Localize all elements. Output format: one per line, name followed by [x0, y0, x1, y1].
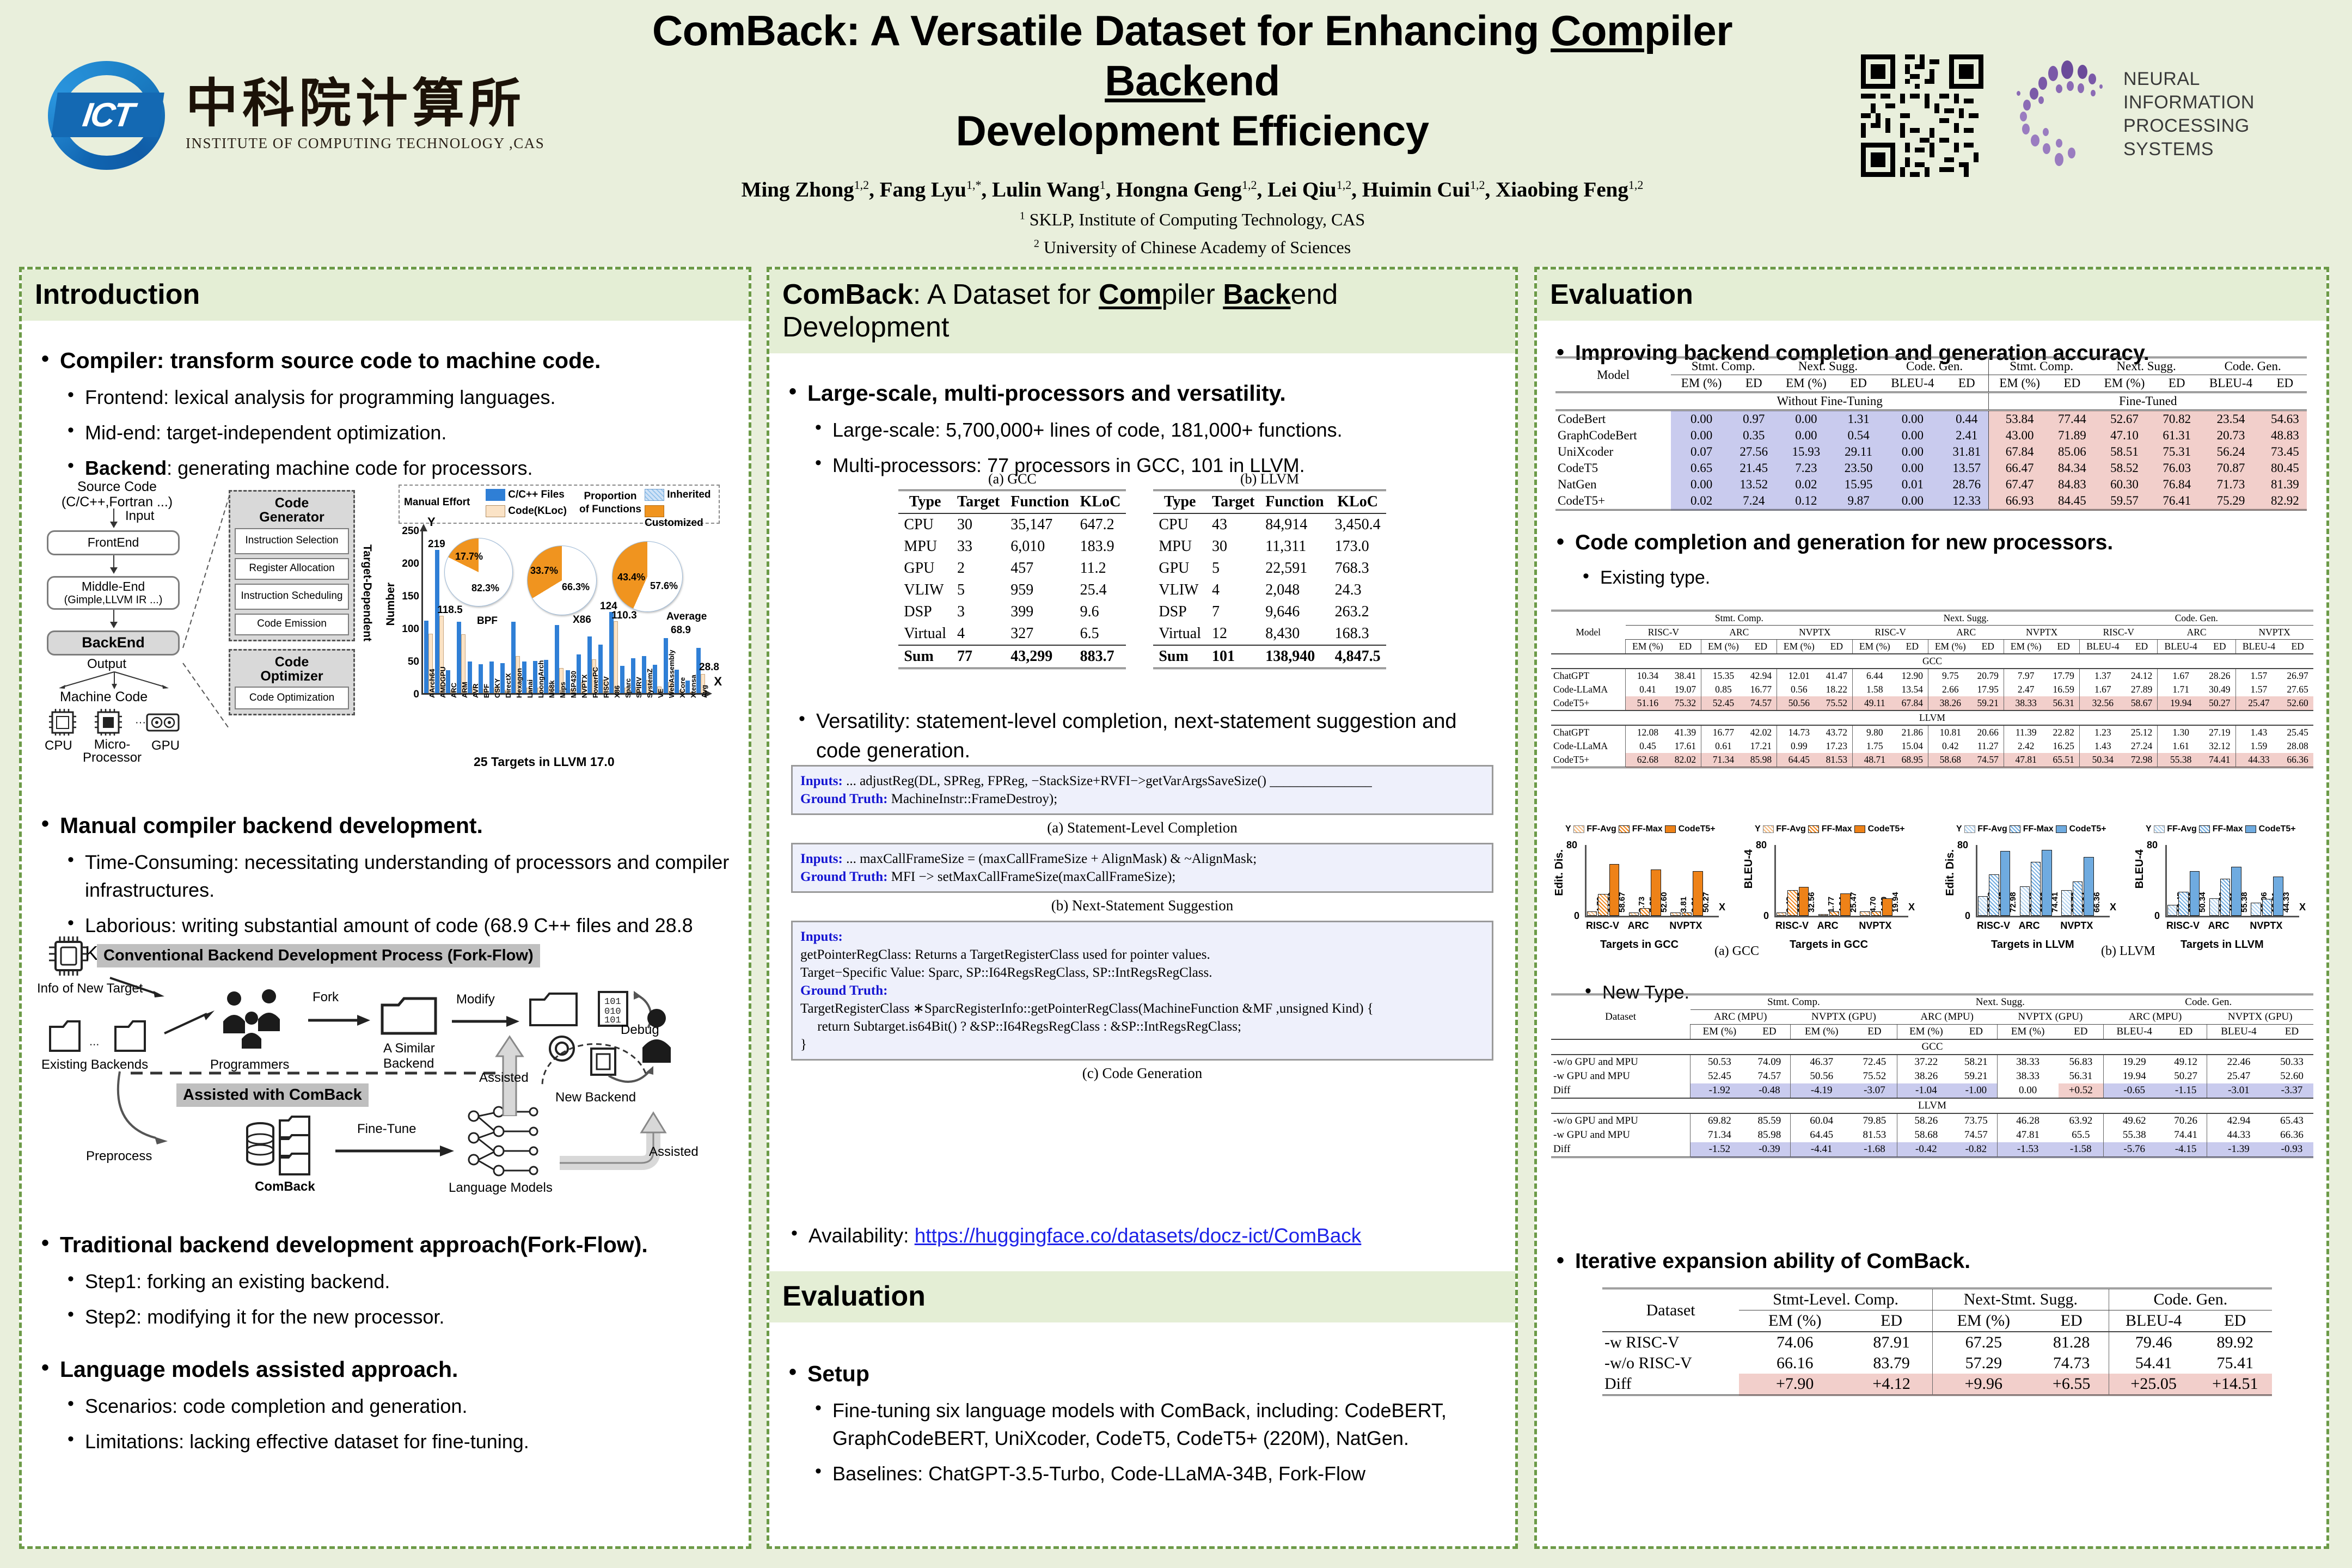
table-row: CodeBert0.000.970.001.310.000.4453.8477.… [1555, 411, 2307, 428]
availability-link[interactable]: https://huggingface.co/datasets/docz-ict… [915, 1224, 1362, 1247]
metric-header: ED [1972, 640, 2004, 654]
cell: 16.59 [2048, 683, 2079, 696]
cell: 16.77 [1701, 725, 1745, 739]
cell: 38.41 [1670, 669, 1701, 683]
minichart-ylabel: BLEU-4 [2134, 849, 2146, 889]
table-row: CodeT5+51.1675.3252.4574.5750.5675.5249.… [1551, 696, 2313, 710]
metric-header: ED [1851, 1310, 1932, 1332]
metric-header: EM (%) [2004, 640, 2048, 654]
cell: 38.26 [1897, 1069, 1955, 1083]
col-header: Target [1206, 491, 1260, 514]
cell: 29.11 [1836, 444, 1880, 460]
cell: 71.34 [1701, 753, 1745, 768]
cell: 77.44 [2050, 411, 2094, 428]
cell: -0.82 [1955, 1142, 1997, 1157]
cell: 66.36 [2282, 753, 2313, 768]
pipeline-micro-processor-label: Micro-Processor [83, 738, 142, 764]
row-label: Diff [1551, 1083, 1690, 1098]
cell: 54.41 [2109, 1353, 2198, 1374]
cell: 6,010 [1005, 536, 1074, 558]
codebox-statement-completion: Inputs: ... adjustReg(DL, SPReg, FPReg, … [791, 765, 1493, 815]
target-header: RISC-V [1626, 626, 1701, 640]
cell: 27.56 [1732, 444, 1775, 460]
group-header: Next. Sugg. [1775, 358, 1880, 375]
minichart-category: RISC-V [1977, 920, 2010, 932]
cell: 2 [952, 558, 1005, 579]
chart-legend-group-proportion: Proportionof Functions [579, 490, 641, 516]
row-label: GraphCodeBert [1555, 427, 1671, 444]
cell: 0.00 [1671, 476, 1732, 493]
table-llvm-wrapper: (b) LLVM TypeTargetFunctionKLoCCPU4384,9… [1153, 471, 1386, 669]
metric-header: ED [2035, 1310, 2109, 1332]
intro-bullet-traditional: Traditional backend development approach… [36, 1230, 734, 1331]
pie-chart [527, 546, 597, 615]
table-row: CodeT50.6521.457.2323.500.0013.5766.4784… [1555, 460, 2307, 476]
qr-code-icon[interactable]: 🤗 [1861, 54, 1983, 177]
cell: -1.92 [1690, 1083, 1749, 1098]
row-label: Code-LLaMA [1551, 683, 1626, 696]
minichart-category: NVPTX [2250, 920, 2282, 932]
chart-xtick: X86 [613, 685, 621, 698]
metric-header: ED [2050, 375, 2094, 393]
cell: 50.56 [1791, 1069, 1853, 1083]
cell: +9.96 [1933, 1374, 2035, 1395]
cell: 6.44 [1853, 669, 1897, 683]
target-header: NVPTX [2235, 626, 2313, 640]
cell: -4.15 [2165, 1142, 2207, 1157]
minichart-legend: Y FF-Avg FF-Max CodeT5+ [2146, 824, 2296, 834]
cell: 50.34 [2080, 753, 2126, 768]
chart-xtick: DirectX [504, 673, 512, 698]
table-llvm-caption: (b) LLVM [1153, 471, 1386, 487]
cg-title: CodeGenerator [235, 496, 349, 525]
chart-legend-files: C/C++ Files [486, 489, 565, 501]
cell: VLIW [1153, 579, 1206, 601]
pipeline-chip-ellipsis: ··· [135, 716, 146, 729]
table-row: -w/o GPU and MPU50.5374.0946.3772.4537.2… [1551, 1055, 2313, 1069]
cell: 52.60 [2270, 1069, 2313, 1083]
chart-xtick: SystemZ [646, 669, 654, 698]
forkflow-assisted-2: Assisted [649, 1144, 699, 1160]
cell: 84,914 [1260, 513, 1329, 536]
cell: -1.52 [1690, 1142, 1749, 1157]
cell: 58.52 [2094, 460, 2155, 476]
cell: 27.89 [2126, 683, 2158, 696]
minichart-category: RISC-V [1586, 920, 1619, 932]
table-row: CPU3035,147647.2 [898, 513, 1126, 536]
metric-header: ED [1945, 375, 1989, 393]
cell: -0.39 [1749, 1142, 1791, 1157]
cell: 0.02 [1775, 476, 1836, 493]
cell: 69.82 [1690, 1113, 1749, 1128]
band-finetuned: Fine-Tuned [1989, 393, 2307, 411]
cell: 46.28 [1997, 1113, 2058, 1128]
cell: 883.7 [1075, 645, 1126, 669]
chart-annotation: 219 [428, 538, 445, 550]
cell: 28.26 [2204, 669, 2235, 683]
figure-fork-flow: Conventional Backend Development Process… [37, 931, 739, 1203]
cell: 14.73 [1777, 725, 1821, 739]
group-header: Next. Sugg. [2094, 358, 2198, 375]
cell: 26.97 [2282, 669, 2313, 683]
minichart-y-axis [2165, 845, 2167, 916]
target-header: NVPTX [2004, 626, 2080, 640]
codebox-c-line-5: TargetRegisterClass ∗SparcRegisterInfo::… [800, 1000, 1484, 1018]
chart-xtick: M68k [548, 680, 556, 698]
cell: MPU [898, 536, 952, 558]
cell: -1.00 [1955, 1083, 1997, 1098]
table-existing-type-results: ModelStmt. Comp.Next. Sugg.Code. Gen.RIS… [1551, 610, 2313, 768]
cell: 27.24 [2126, 739, 2158, 753]
table-row-sum: Sum101138,9404,847.5 [1153, 645, 1386, 669]
minichart-y-axis [1585, 845, 1587, 916]
minichart-y-axis [1774, 845, 1776, 916]
mid-heading-comback: ComBack [782, 279, 913, 310]
metric-header: BLEU-4 [2109, 1310, 2198, 1332]
target-dependent-label: Target-Dependent [360, 544, 373, 641]
availability-row: Availability: https://huggingface.co/dat… [783, 1214, 1491, 1251]
intro-sub-time-consuming: Time-Consuming: necessitating understand… [60, 848, 734, 904]
codebox-c-line-3: Target−Specific Value: Sparc, SP::I64Reg… [800, 964, 1484, 982]
cell: 9.75 [1928, 669, 1973, 683]
eval-bullet-iterative: Iterative expansion ability of ComBack. [1551, 1247, 2312, 1276]
cell: 49.12 [2165, 1055, 2207, 1069]
row-label: -w GPU and MPU [1551, 1128, 1690, 1142]
mid-heading-back: Back [1223, 279, 1290, 310]
cell: 50.27 [2204, 696, 2235, 710]
minichart-x-letter: X [2110, 902, 2116, 913]
intro-bullet-manual-dev-label: Manual compiler backend development. [60, 813, 483, 838]
metric-header: BLEU-4 [2080, 640, 2126, 654]
forkflow-assisted-1: Assisted [479, 1070, 529, 1086]
cell: 38.33 [2004, 696, 2048, 710]
minichart-bar-value: 74.41 [2050, 892, 2060, 912]
cell: 24.12 [2126, 669, 2158, 683]
minichart-category: ARC [1817, 920, 1839, 932]
cell: 399 [1005, 601, 1074, 623]
chart-xtick: WebAssembly [667, 650, 676, 698]
cell: 1.43 [2235, 725, 2282, 739]
target-header: NVPTX [1777, 626, 1853, 640]
cell: 74.09 [1749, 1055, 1791, 1069]
cell: 74.57 [1955, 1128, 1997, 1142]
cell: 1.37 [2080, 669, 2126, 683]
cell: 5 [1206, 558, 1260, 579]
minichart-x-axis [1774, 916, 1908, 917]
cell: 16.25 [2048, 739, 2079, 753]
cell: 17.21 [1745, 739, 1777, 753]
cell: 70.87 [2198, 460, 2263, 476]
band-llvm: LLVM [1551, 710, 2313, 725]
metric-header: ED [2263, 375, 2307, 393]
cell: 67.84 [1989, 444, 2050, 460]
cell: 60.30 [2094, 476, 2155, 493]
group-header: Code. Gen. [2198, 358, 2307, 375]
cell: 55.38 [2104, 1128, 2165, 1142]
cell: 647.2 [1075, 513, 1126, 536]
cell: 17.61 [1670, 739, 1701, 753]
title-back: Back [1105, 57, 1205, 105]
row-label: -w/o GPU and MPU [1551, 1113, 1690, 1128]
cell: 959 [1005, 579, 1074, 601]
intro-sub-limitations: Limitations: lacking effective dataset f… [60, 1428, 734, 1455]
cell: 84.34 [2050, 460, 2094, 476]
forkflow-similar-backend: A SimilarBackend [383, 1041, 435, 1071]
cell: 0.97 [1732, 411, 1775, 428]
cell: 27.65 [2282, 683, 2313, 696]
svg-text:101: 101 [604, 997, 621, 1007]
chart-xtick: NVPTX [580, 675, 589, 698]
metric-header: EM (%) [1997, 1025, 2058, 1040]
chart-xtick: RISCV [602, 676, 610, 698]
target-header: ARC [2158, 626, 2235, 640]
cell: 77 [952, 645, 1005, 669]
codebox-c-line-7: } [800, 1036, 1484, 1053]
cell: 17.23 [1821, 739, 1852, 753]
minichart-xlabel: Targets in GCC [1790, 939, 1868, 951]
cell: 87.91 [1851, 1332, 1932, 1353]
neurips-line-2: PROCESSING SYSTEMS [2123, 114, 2319, 161]
table-gcc-wrapper: (a) GCC TypeTargetFunctionKLoCCPU3035,14… [898, 471, 1126, 669]
cell: 0.61 [1701, 739, 1745, 753]
tables-dataset-stats: (a) GCC TypeTargetFunctionKLoCCPU3035,14… [769, 471, 1515, 669]
cell: 13.57 [1945, 460, 1989, 476]
cell: MPU [1153, 536, 1206, 558]
ict-abbr-label: ICT [51, 93, 164, 137]
metric-header: EM (%) [1690, 1025, 1749, 1040]
forkflow-title-top: Conventional Backend Development Process… [97, 944, 540, 967]
intro-sub-backend-bold: Backend [85, 457, 167, 479]
pie-x86-customized-pct: 33.7% [530, 565, 558, 577]
metric-header: EM (%) [2094, 375, 2155, 393]
pie-bpf-customized-pct: 17.7% [455, 551, 483, 562]
cell: 50.56 [1777, 696, 1821, 710]
cell: 1.75 [1853, 739, 1897, 753]
cell: 19.94 [2158, 696, 2204, 710]
metric-header: BLEU-4 [2207, 1025, 2270, 1040]
table-row: -w RISC-V74.0687.9167.2581.2879.4689.92 [1602, 1332, 2272, 1353]
cell: 1.57 [2235, 669, 2282, 683]
metric-header: EM (%) [1853, 640, 1897, 654]
cell: 0.85 [1701, 683, 1745, 696]
minichart-bar-value: 19.94 [1891, 892, 1900, 912]
cell: 30.49 [2204, 683, 2235, 696]
minichart-bar-value: 55.38 [2240, 892, 2249, 912]
row-label: UniXcoder [1555, 444, 1671, 460]
cell: 138,940 [1260, 645, 1329, 669]
forkflow-language-models: Language Models [449, 1180, 553, 1196]
cell: 768.3 [1330, 558, 1386, 579]
cell: -1.04 [1897, 1083, 1955, 1098]
chart-xtick: Lanai [526, 679, 534, 698]
cell: CPU [898, 513, 952, 536]
cell: 457 [1005, 558, 1074, 579]
cell: 75.52 [1821, 696, 1852, 710]
cell: GPU [1153, 558, 1206, 579]
cell: 27.19 [2204, 725, 2235, 739]
cell: 16.77 [1745, 683, 1777, 696]
cell: 80.45 [2263, 460, 2307, 476]
band-gcc: GCC [1551, 654, 2313, 669]
cell: 8,430 [1260, 623, 1329, 645]
cell: -3.07 [1852, 1083, 1897, 1098]
col-header: Function [1005, 491, 1074, 514]
cell: 31.81 [1945, 444, 1989, 460]
col-header-dataset: Dataset [1551, 995, 1690, 1040]
chart-ytick: 200 [399, 558, 419, 570]
cell: 58.21 [1955, 1055, 1997, 1069]
mid-heading-b: : A Dataset for [913, 279, 1099, 310]
cell: 0.00 [1997, 1083, 2058, 1098]
intro-sub-backend-text: : generating machine code for processors… [167, 457, 532, 479]
group-header: Code. Gen. [2080, 611, 2313, 626]
cell: 7 [1206, 601, 1260, 623]
cell: 85.98 [1749, 1128, 1791, 1142]
metric-header: ED [2282, 640, 2313, 654]
cell: -1.39 [2207, 1142, 2270, 1157]
cell: 47.10 [2094, 427, 2155, 444]
pie-avg-customized-pct: 43.4% [617, 572, 645, 583]
poster-header: ICT 中科院计算所 INSTITUTE OF COMPUTING TECHNO… [0, 0, 2352, 256]
minichart-ytick-max: 80 [1756, 840, 1767, 851]
metric-header: EM (%) [1775, 375, 1836, 393]
cell: 37.22 [1897, 1055, 1955, 1069]
table-row: MPU336,010183.9 [898, 536, 1126, 558]
metric-header: BLEU-4 [2235, 640, 2282, 654]
cell: 79.85 [1852, 1113, 1897, 1128]
cell: 76.84 [2155, 476, 2198, 493]
cell: -0.65 [2104, 1083, 2165, 1098]
minichart-ytick-min: 0 [1965, 910, 1970, 922]
cell: 7.97 [2004, 669, 2048, 683]
cell: 66.47 [1989, 460, 2050, 476]
minichart-caption-llvm: (b) LLVM [2101, 944, 2155, 959]
metric-header: EM (%) [1671, 375, 1732, 393]
group-header: Code. Gen. [2104, 995, 2313, 1010]
affiliation-1-text: SKLP, Institute of Computing Technology,… [1030, 210, 1365, 229]
cell: 53.84 [1989, 411, 2050, 428]
cell: 21.45 [1732, 460, 1775, 476]
forkflow-comback: ComBack [255, 1179, 315, 1195]
codebox-c-line-1: Inputs: [800, 928, 1484, 946]
table-new-type-results: DatasetStmt. Comp.Next. Sugg.Code. Gen.A… [1551, 994, 2313, 1158]
cell: 38.33 [1997, 1055, 2058, 1069]
cell: 74.73 [2035, 1353, 2109, 1374]
row-label: -w RISC-V [1602, 1332, 1739, 1353]
cell: 168.3 [1330, 623, 1386, 645]
mid-bullet-setup-label: Setup [807, 1361, 869, 1386]
cell: 2.42 [2004, 739, 2048, 753]
chart-legend-customized: Customized [645, 505, 719, 529]
minichart-xlabel: Targets in LLVM [1991, 939, 2074, 951]
ict-english-name: INSTITUTE OF COMPUTING TECHNOLOGY ,CAS [186, 135, 544, 152]
group-header: Stmt. Comp. [1989, 358, 2094, 375]
cell: 85.98 [1745, 753, 1777, 768]
subgroup-header: ARC (MPU) [1690, 1010, 1791, 1025]
forkflow-new-backend: New Backend [555, 1090, 636, 1105]
cell: 42.02 [1745, 725, 1777, 739]
mid-heading-piler: piler [1162, 279, 1223, 310]
cell: 65.5 [2059, 1128, 2104, 1142]
section-heading-comback: ComBack: A Dataset for Compiler Backend … [769, 269, 1515, 353]
neurips-swirl-icon [2014, 57, 2118, 171]
cell: 64.45 [1777, 753, 1821, 768]
cell: 0.41 [1626, 683, 1670, 696]
cell: 47.81 [1997, 1128, 2058, 1142]
pie-label-bpf: BPF [477, 615, 498, 627]
cell: 52.45 [1701, 696, 1745, 710]
mid-bullet-versatility: Versatility: statement-level completion,… [791, 707, 1501, 766]
cell: 23.54 [2198, 411, 2263, 428]
cell: 0.07 [1671, 444, 1732, 460]
cell: 85.59 [1749, 1113, 1791, 1128]
cell: 74.57 [1745, 696, 1777, 710]
cell: Sum [1153, 645, 1206, 669]
cell: 44.33 [2207, 1128, 2270, 1142]
cell: 35,147 [1005, 513, 1074, 536]
metric-header: EM (%) [1928, 640, 1973, 654]
cell: 42.94 [1745, 669, 1777, 683]
cell: 72.98 [2126, 753, 2158, 768]
cell: 12.01 [1777, 669, 1821, 683]
cell: 65.43 [2270, 1113, 2313, 1128]
chart-xtick: Hexagon [515, 668, 523, 698]
cell: 25.45 [2282, 725, 2313, 739]
cell: 4 [952, 623, 1005, 645]
cell: 58.68 [1928, 753, 1973, 768]
row-label: Diff [1551, 1142, 1690, 1157]
minichart-bar-value: 44.33 [2282, 892, 2291, 912]
table-row: VLIW42,04824.3 [1153, 579, 1386, 601]
cell: Virtual [1153, 623, 1206, 645]
cell: 51.16 [1626, 696, 1670, 710]
target-header: RISC-V [1853, 626, 1928, 640]
cell: 17.79 [2048, 669, 2079, 683]
cell: 0.42 [1928, 739, 1973, 753]
neurips-line-1: NEURAL INFORMATION [2123, 68, 2319, 114]
chart-xtick: ARC [450, 683, 458, 698]
minichart-bar-value: 1.77 [1827, 897, 1836, 912]
cell: 50.53 [1690, 1055, 1749, 1069]
intro-sub-scenarios: Scenarios: code completion and generatio… [60, 1392, 734, 1420]
band-without-ft: Without Fine-Tuning [1671, 393, 1989, 411]
table-row: -w/o RISC-V66.1683.7957.2974.7354.4175.4… [1602, 1353, 2272, 1374]
page-title: ComBack: A Versatile Dataset for Enhanci… [572, 5, 1813, 156]
ict-chinese-name: 中科院计算所 [186, 77, 544, 130]
table-row: Diff+7.90+4.12+9.96+6.55+25.05+14.51 [1602, 1374, 2272, 1395]
minichart-ylabel: Edit. Dis. [1553, 849, 1566, 896]
cell: 13.54 [1896, 683, 1928, 696]
cell: 23.50 [1836, 460, 1880, 476]
group-header: Code. Gen. [1881, 358, 1989, 375]
title-block: ComBack: A Versatile Dataset for Enhanci… [572, 5, 1813, 258]
cell: 0.99 [1777, 739, 1821, 753]
minichart-category: ARC [1628, 920, 1649, 932]
cell: 19.29 [2104, 1055, 2165, 1069]
cell: 19.07 [1670, 683, 1701, 696]
column-evaluation: Evaluation Improving backend completion … [1534, 267, 2329, 1549]
chart-xtick: Xtensa [689, 675, 697, 698]
codebox-c-line-6: return Subtarget.is64Bit() ? &SP::I64Reg… [800, 1018, 1484, 1036]
intro-sub-step1: Step1: forking an existing backend. [60, 1267, 734, 1295]
cell: 2.47 [2004, 683, 2048, 696]
title-com: Com [1551, 7, 1644, 54]
metric-header: EM (%) [1933, 1310, 2035, 1332]
cell: -4.41 [1791, 1142, 1853, 1157]
chart-annotation: 68.9 [671, 624, 691, 636]
table-row: GPU245711.2 [898, 558, 1126, 579]
metric-header: ED [1670, 640, 1701, 654]
